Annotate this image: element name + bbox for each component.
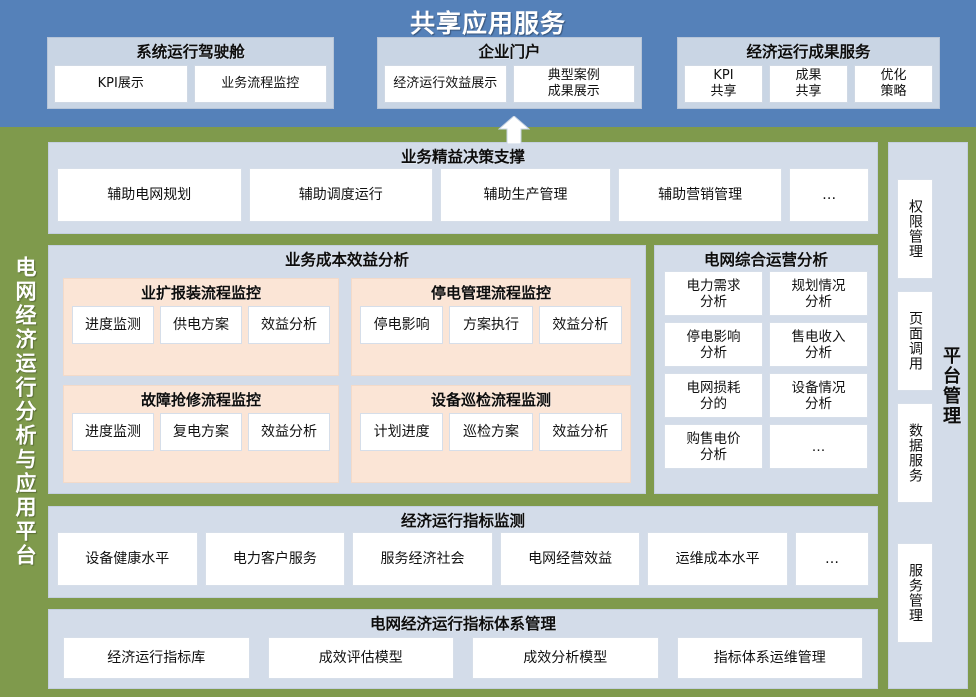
platform-vertical-title: 电网经济运行分析与应用平台 — [4, 131, 46, 693]
tile-assist-production-management[interactable]: 辅助生产管理 — [440, 168, 611, 222]
top-card-system-cockpit[interactable]: 系统运行驾驶舱 KPI展示 业务流程监控 — [47, 37, 334, 109]
panel-cost-benefit-analysis: 业务成本效益分析 业扩报装流程监控 进度监测 供电方案 效益分析 停电管理流程监… — [48, 245, 646, 494]
tile-progress-monitor[interactable]: 进度监测 — [72, 413, 154, 451]
tile-electricity-sales-revenue-analysis[interactable]: 售电收入分析 — [769, 322, 868, 367]
top-cell-optimization-strategy[interactable]: 优化策略 — [854, 65, 933, 103]
shared-application-service-banner: 共享应用服务 系统运行驾驶舱 KPI展示 业务流程监控 企业门户 经济运行效益展… — [0, 0, 976, 127]
subpanel-tile-row: 计划进度 巡检方案 效益分析 — [352, 411, 630, 459]
tile-row: 设备健康水平 电力客户服务 服务经济社会 电网经营效益 运维成本水平 … — [49, 532, 877, 594]
tile-assist-marketing-management[interactable]: 辅助营销管理 — [618, 168, 782, 222]
panel-title: 电网经济运行指标体系管理 — [49, 610, 877, 635]
tile-assist-dispatch-operation[interactable]: 辅助调度运行 — [249, 168, 434, 222]
tile-planning-status-analysis[interactable]: 规划情况分析 — [769, 271, 868, 316]
tile-effectiveness-evaluation-model[interactable]: 成效评估模型 — [268, 637, 455, 679]
subpanel-title: 设备巡检流程监测 — [352, 386, 630, 411]
tile-row: 辅助电网规划 辅助调度运行 辅助生产管理 辅助营销管理 … — [49, 168, 877, 230]
top-card-enterprise-portal[interactable]: 企业门户 经济运行效益展示 典型案例成果展示 — [377, 37, 642, 109]
panel-title: 业务精益决策支撑 — [49, 143, 877, 168]
tile-ops-more[interactable]: … — [769, 424, 868, 469]
top-card-cell-row: KPI共享 成果共享 优化策略 — [684, 65, 933, 103]
tile-power-restore-plan[interactable]: 复电方案 — [160, 413, 242, 451]
panel-platform-management: 权限管理 页面调用 数据服务 服务管理 平台管理 — [888, 142, 968, 689]
panel-title: 业务成本效益分析 — [49, 246, 645, 271]
top-card-title: 系统运行驾驶舱 — [54, 42, 327, 62]
top-card-title: 经济运行成果服务 — [684, 42, 933, 62]
subpanel-expand-install-process: 业扩报装流程监控 进度监测 供电方案 效益分析 — [63, 278, 339, 376]
panel-grid-operations-analysis: 电网综合运营分析 电力需求分析 规划情况分析 停电影响分析 售电收入分析 电网损… — [654, 245, 878, 494]
top-cell-economic-benefit-display[interactable]: 经济运行效益展示 — [384, 65, 507, 103]
tile-plan-progress[interactable]: 计划进度 — [360, 413, 443, 451]
subpanel-outage-management-process: 停电管理流程监控 停电影响 方案执行 效益分析 — [351, 278, 631, 376]
tile-data-service[interactable]: 数据服务 — [897, 403, 933, 503]
subpanel-tile-row: 进度监测 复电方案 效益分析 — [64, 411, 338, 459]
tile-benefit-analysis[interactable]: 效益分析 — [539, 413, 622, 451]
ops-tile-grid: 电力需求分析 规划情况分析 停电影响分析 售电收入分析 电网损耗分的 设备情况分… — [655, 271, 877, 477]
top-cell-business-process-monitor[interactable]: 业务流程监控 — [194, 65, 328, 103]
top-card-cell-row: KPI展示 业务流程监控 — [54, 65, 327, 103]
top-cell-kpi-share[interactable]: KPI共享 — [684, 65, 763, 103]
panel-title: 经济运行指标监测 — [49, 507, 877, 532]
tile-grid-loss-analysis[interactable]: 电网损耗分的 — [664, 373, 763, 418]
tile-purchase-sale-price-analysis[interactable]: 购售电价分析 — [664, 424, 763, 469]
banner-title: 共享应用服务 — [0, 4, 976, 40]
tile-service-economy-society[interactable]: 服务经济社会 — [352, 532, 493, 586]
tile-benefit-analysis[interactable]: 效益分析 — [539, 306, 622, 344]
top-cell-result-share[interactable]: 成果共享 — [769, 65, 848, 103]
tile-power-supply-plan[interactable]: 供电方案 — [160, 306, 242, 344]
subpanel-tile-row: 停电影响 方案执行 效益分析 — [352, 304, 630, 352]
tile-om-cost-level[interactable]: 运维成本水平 — [647, 532, 788, 586]
tile-page-invocation[interactable]: 页面调用 — [897, 291, 933, 391]
tile-outage-impact[interactable]: 停电影响 — [360, 306, 443, 344]
panel-title: 电网综合运营分析 — [655, 246, 877, 271]
subpanel-tile-row: 进度监测 供电方案 效益分析 — [64, 304, 338, 352]
tile-indicator-more[interactable]: … — [795, 532, 869, 586]
tile-decision-more[interactable]: … — [789, 168, 869, 222]
subpanel-equipment-inspection-process: 设备巡检流程监测 计划进度 巡检方案 效益分析 — [351, 385, 631, 483]
top-card-economic-result-service[interactable]: 经济运行成果服务 KPI共享 成果共享 优化策略 — [677, 37, 940, 109]
subpanel-fault-repair-process: 故障抢修流程监控 进度监测 复电方案 效益分析 — [63, 385, 339, 483]
tile-assist-grid-planning[interactable]: 辅助电网规划 — [57, 168, 242, 222]
tile-equipment-status-analysis[interactable]: 设备情况分析 — [769, 373, 868, 418]
top-cell-kpi-display[interactable]: KPI展示 — [54, 65, 188, 103]
subpanel-title: 故障抢修流程监控 — [64, 386, 338, 411]
tile-benefit-analysis[interactable]: 效益分析 — [248, 306, 330, 344]
tile-power-demand-analysis[interactable]: 电力需求分析 — [664, 271, 763, 316]
tile-permission-management[interactable]: 权限管理 — [897, 179, 933, 279]
panel-indicator-monitoring: 经济运行指标监测 设备健康水平 电力客户服务 服务经济社会 电网经营效益 运维成… — [48, 506, 878, 598]
tile-row: 经济运行指标库 成效评估模型 成效分析模型 指标体系运维管理 — [49, 635, 877, 687]
platform-management-label: 平台管理 — [935, 326, 965, 446]
top-card-cell-row: 经济运行效益展示 典型案例成果展示 — [384, 65, 635, 103]
tile-progress-monitor[interactable]: 进度监测 — [72, 306, 154, 344]
up-arrow-icon — [498, 116, 530, 144]
tile-inspection-plan[interactable]: 巡检方案 — [449, 413, 532, 451]
tile-grid-operating-benefit[interactable]: 电网经营效益 — [500, 532, 641, 586]
tile-indicator-system-om-management[interactable]: 指标体系运维管理 — [677, 637, 864, 679]
subpanel-title: 业扩报装流程监控 — [64, 279, 338, 304]
subpanel-title: 停电管理流程监控 — [352, 279, 630, 304]
tile-power-customer-service[interactable]: 电力客户服务 — [205, 532, 346, 586]
tile-equipment-health-level[interactable]: 设备健康水平 — [57, 532, 198, 586]
tile-benefit-analysis[interactable]: 效益分析 — [248, 413, 330, 451]
top-cell-typical-case-result-display[interactable]: 典型案例成果展示 — [513, 65, 636, 103]
tile-effectiveness-analysis-model[interactable]: 成效分析模型 — [472, 637, 659, 679]
panel-decision-support: 业务精益决策支撑 辅助电网规划 辅助调度运行 辅助生产管理 辅助营销管理 … — [48, 142, 878, 234]
panel-indicator-system-management: 电网经济运行指标体系管理 经济运行指标库 成效评估模型 成效分析模型 指标体系运… — [48, 609, 878, 689]
tile-service-management[interactable]: 服务管理 — [897, 543, 933, 643]
tile-outage-impact-analysis[interactable]: 停电影响分析 — [664, 322, 763, 367]
top-card-title: 企业门户 — [384, 42, 635, 62]
tile-economic-indicator-library[interactable]: 经济运行指标库 — [63, 637, 250, 679]
tile-plan-execution[interactable]: 方案执行 — [449, 306, 532, 344]
